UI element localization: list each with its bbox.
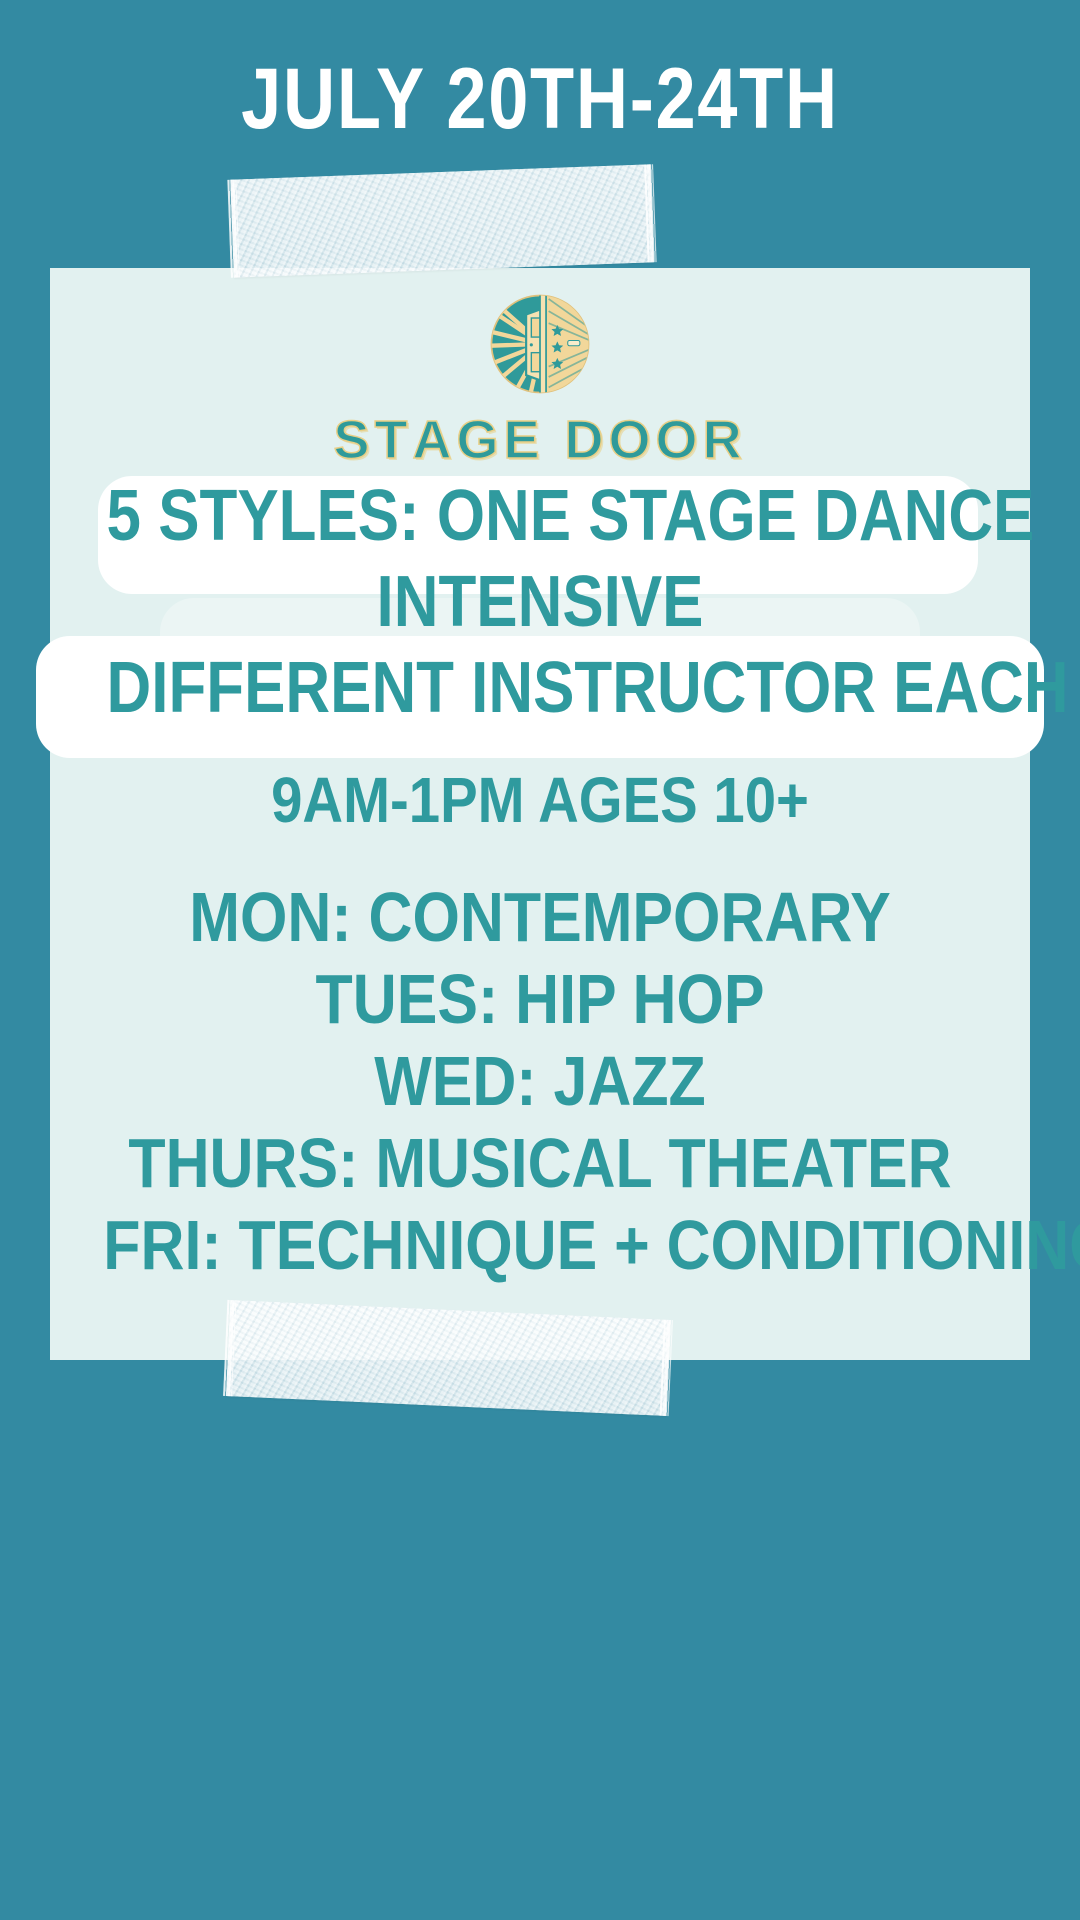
schedule-row: FRI: TECHNIQUE + CONDITIONING	[103, 1204, 976, 1286]
logo-letter: T	[374, 413, 412, 467]
event-flyer: JULY 20TH-24TH	[0, 0, 1080, 1920]
headline-line-1: 5 STYLES: ONE STAGE DANCE	[107, 473, 974, 559]
schedule-row: TUES: HIP HOP	[103, 958, 976, 1040]
time-and-ages: 9AM-1PM AGES 10+	[109, 768, 971, 832]
logo-wordmark: STAGE DOOR	[50, 413, 1030, 467]
schedule-row: THURS: MUSICAL THEATER	[103, 1122, 976, 1204]
logo-letter: O	[656, 413, 703, 467]
washi-tape-top-icon	[230, 164, 653, 277]
flyer-card: STAGE DOOR ARTS ACADEMY 5 STYLES: ONE ST…	[50, 268, 1030, 1360]
logo-letter: D	[565, 413, 609, 467]
page-title: JULY 20TH-24TH	[86, 56, 993, 144]
headline: 5 STYLES: ONE STAGE DANCE INTENSIVE DIFF…	[36, 473, 1044, 731]
weekly-schedule: MON: CONTEMPORARY TUES: HIP HOP WED: JAZ…	[38, 876, 1042, 1286]
schedule-row: WED: JAZZ	[103, 1040, 976, 1122]
schedule-row: MON: CONTEMPORARY	[103, 876, 976, 958]
logo-letter: A	[412, 413, 456, 467]
headline-line-3: DIFFERENT INSTRUCTOR EACH DAY	[107, 645, 974, 731]
logo-letter: O	[609, 413, 656, 467]
stage-door-sunburst-emblem-icon	[488, 292, 592, 396]
logo-letter: E	[503, 413, 544, 467]
logo-letter: G	[456, 413, 503, 467]
washi-tape-bottom-icon	[226, 1300, 670, 1416]
logo-letter: S	[333, 413, 374, 467]
logo-letter: R	[703, 413, 747, 467]
headline-line-2: INTENSIVE	[107, 559, 974, 645]
